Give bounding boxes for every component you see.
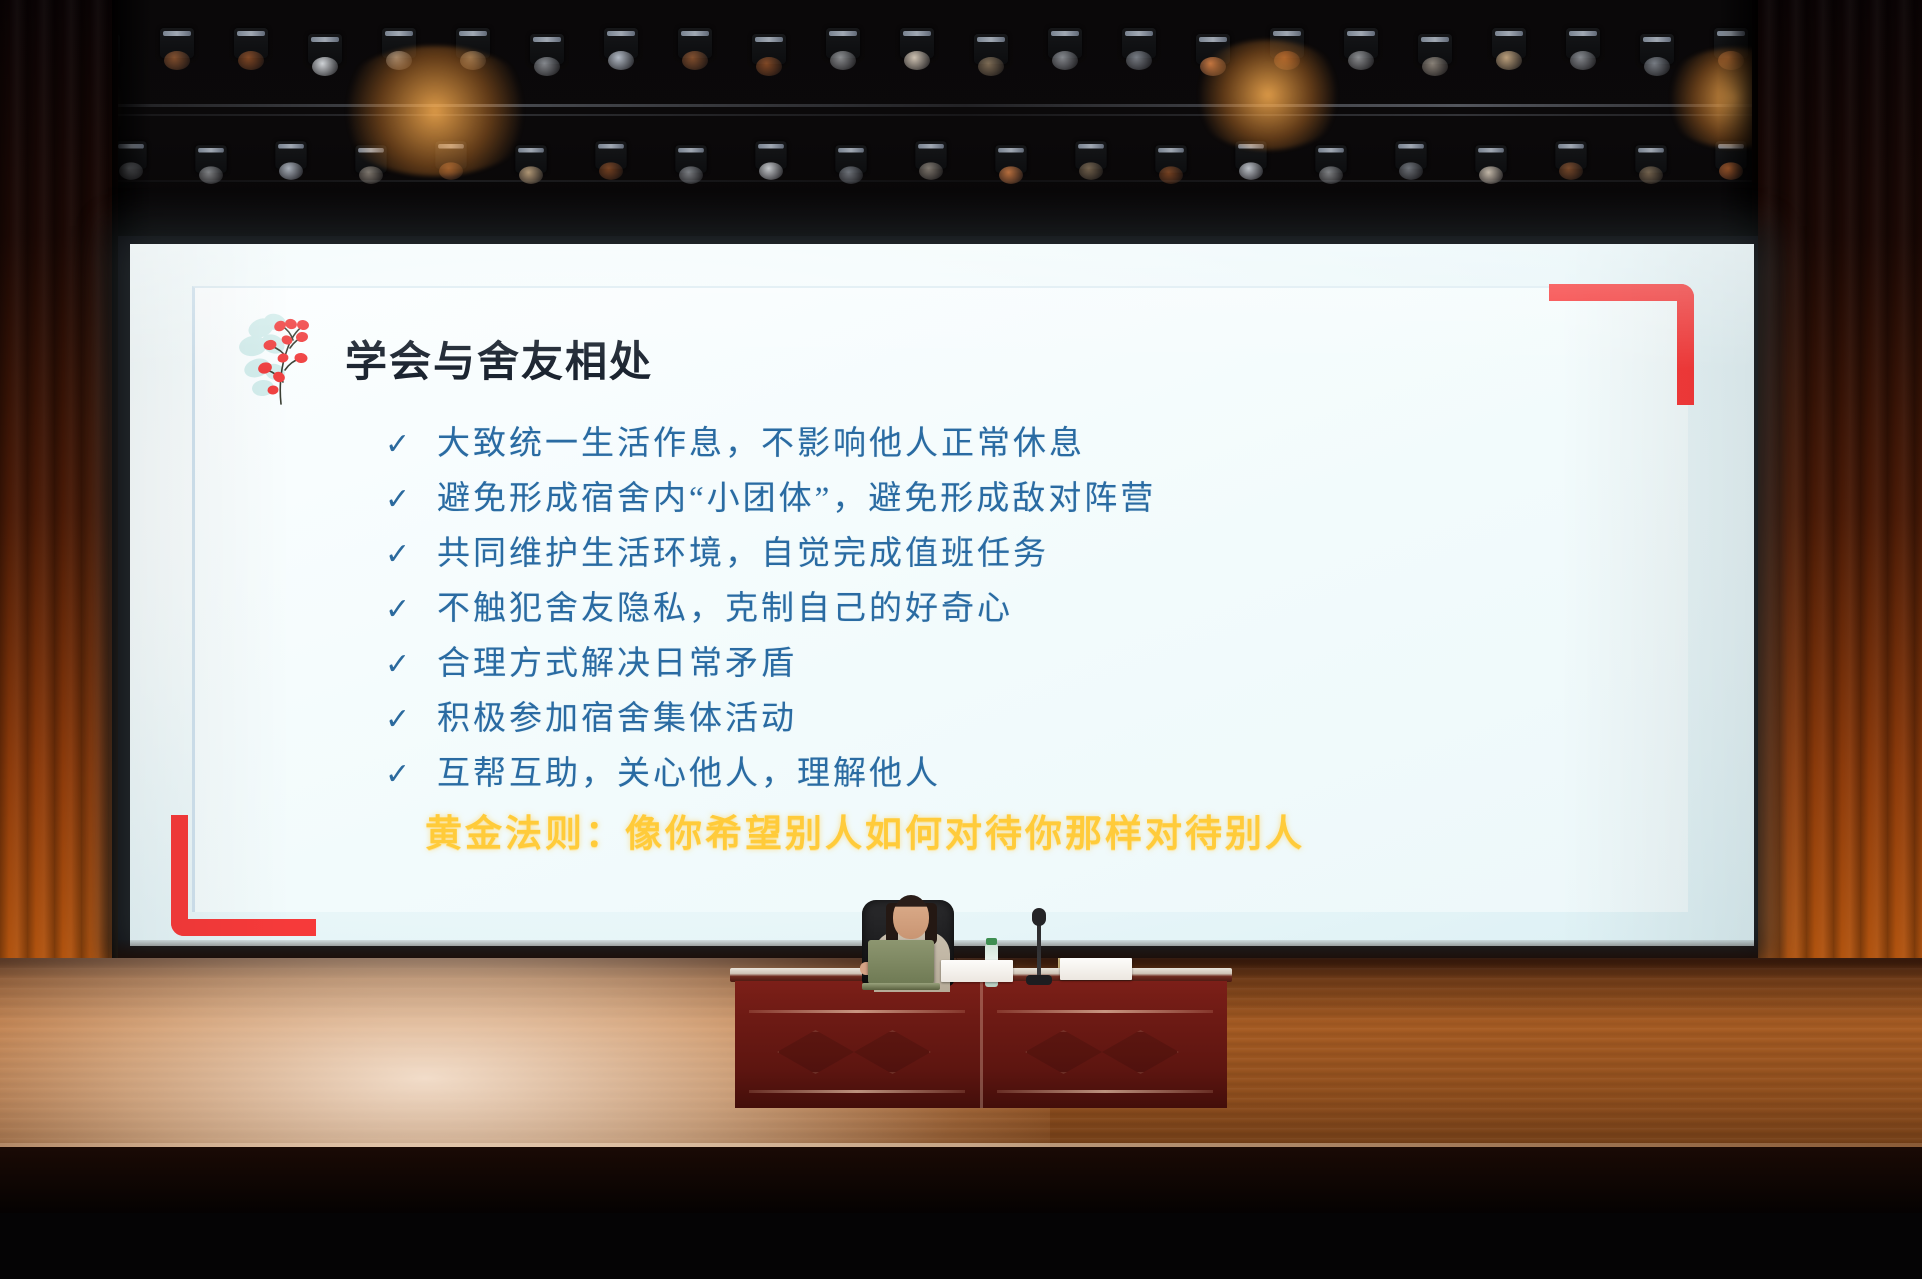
bullet-item: ✓共同维护生活环境，自觉完成值班任务 bbox=[385, 526, 1648, 581]
bullet-item: ✓互帮互助，关心他人，理解他人 bbox=[385, 746, 1648, 801]
stage-lamp bbox=[1075, 141, 1106, 169]
stage-front-edge bbox=[0, 1147, 1922, 1213]
stage-lamp bbox=[1122, 28, 1156, 58]
lamp-lens bbox=[839, 166, 863, 183]
lamp-lens bbox=[1496, 51, 1522, 70]
lamp-lens bbox=[1239, 162, 1263, 179]
lamp-bracket bbox=[311, 37, 339, 42]
table-trim-lower-right bbox=[997, 1090, 1213, 1093]
lamp-lens bbox=[534, 57, 560, 76]
lamp-lens bbox=[1422, 57, 1448, 76]
lamp-lens bbox=[1159, 166, 1183, 183]
warm-glow-right bbox=[1188, 40, 1348, 150]
check-icon: ✓ bbox=[385, 705, 411, 735]
stage-lamp bbox=[1344, 28, 1378, 58]
check-icon: ✓ bbox=[385, 430, 411, 460]
lamp-bracket bbox=[385, 31, 413, 36]
lamp-lens bbox=[199, 166, 223, 183]
stage-lamp bbox=[1492, 28, 1526, 58]
bullet-label: 合理方式解决日常矛盾 bbox=[437, 636, 797, 684]
bullet-item: ✓大致统一生活作息，不影响他人正常休息 bbox=[385, 416, 1648, 471]
lamp-bracket bbox=[1318, 148, 1344, 153]
lamp-bracket bbox=[163, 31, 191, 36]
lamp-bracket bbox=[758, 144, 784, 149]
truss-bar-upper bbox=[0, 104, 1922, 107]
check-icon: ✓ bbox=[385, 650, 411, 680]
bullet-label: 避免形成宿舍内“小团体”，避免形成敌对阵营 bbox=[437, 471, 1156, 519]
lamp-bracket bbox=[598, 144, 624, 149]
lamp-lens bbox=[1644, 57, 1670, 76]
stage-lamp bbox=[755, 141, 786, 169]
laptop-screen bbox=[868, 940, 934, 984]
lamp-bracket bbox=[1125, 31, 1153, 36]
slide-bullet-list: ✓大致统一生活作息，不影响他人正常休息✓避免形成宿舍内“小团体”，避免形成敌对阵… bbox=[385, 416, 1648, 801]
stage-lamp bbox=[1640, 34, 1674, 64]
slide-title: 学会与舍友相处 bbox=[345, 328, 653, 389]
lamp-bracket bbox=[533, 37, 561, 42]
lamp-bracket bbox=[1643, 37, 1671, 42]
lamp-bracket bbox=[977, 37, 1005, 42]
bullet-item: ✓积极参加宿舍集体活动 bbox=[385, 691, 1648, 746]
lamp-lens bbox=[830, 51, 856, 70]
check-icon: ✓ bbox=[385, 540, 411, 570]
gooseneck-microphone-foot bbox=[1026, 975, 1052, 985]
lamp-bracket bbox=[1158, 148, 1184, 153]
gooseneck-microphone-head bbox=[1032, 908, 1046, 926]
lamp-lens bbox=[978, 57, 1004, 76]
lamp-bracket bbox=[1347, 31, 1375, 36]
bullet-label: 积极参加宿舍集体活动 bbox=[437, 691, 797, 739]
corner-bracket-bottom-left bbox=[171, 815, 316, 936]
corner-bracket-top-right bbox=[1549, 284, 1694, 405]
lamp-lens bbox=[1559, 162, 1583, 179]
lamp-bracket bbox=[459, 31, 487, 36]
lamp-lens bbox=[164, 51, 190, 70]
lamp-lens bbox=[1399, 162, 1423, 179]
lamp-bracket bbox=[1558, 144, 1584, 149]
lamp-bracket bbox=[518, 148, 544, 153]
stage-lamp bbox=[1315, 145, 1346, 173]
stage-lamp bbox=[826, 28, 860, 58]
lamp-lens bbox=[1319, 166, 1343, 183]
stage-lamp bbox=[515, 145, 546, 173]
stage-lamp bbox=[915, 141, 946, 169]
lamp-bracket bbox=[998, 148, 1024, 153]
berry-branch-icon bbox=[235, 310, 327, 406]
table-trim-upper-right bbox=[997, 1010, 1213, 1013]
ceiling-lighting-rig bbox=[0, 0, 1922, 250]
lamp-bracket bbox=[1199, 37, 1227, 42]
stage-lamp bbox=[1418, 34, 1452, 64]
bullet-label: 共同维护生活环境，自觉完成值班任务 bbox=[437, 526, 1049, 574]
lamp-bracket bbox=[1078, 144, 1104, 149]
presenter-head bbox=[893, 895, 929, 939]
lamp-bracket bbox=[918, 144, 944, 149]
lamp-bracket bbox=[681, 31, 709, 36]
stage-lamp bbox=[595, 141, 626, 169]
lamp-lens bbox=[919, 162, 943, 179]
lamp-lens bbox=[1639, 166, 1663, 183]
lamp-bracket bbox=[838, 148, 864, 153]
lamp-bracket bbox=[198, 148, 224, 153]
stage-lamp bbox=[530, 34, 564, 64]
bullet-item: ✓不触犯舍友隐私，克制自己的好奇心 bbox=[385, 581, 1648, 636]
lamp-lens bbox=[599, 162, 623, 179]
stage-lamp bbox=[160, 28, 194, 58]
lamp-lens bbox=[238, 51, 264, 70]
stage-lamp bbox=[1475, 145, 1506, 173]
stage-lamp bbox=[1395, 141, 1426, 169]
lamp-bracket bbox=[1638, 148, 1664, 153]
stage-lamp bbox=[995, 145, 1026, 173]
lamp-lens bbox=[999, 166, 1023, 183]
podium-table bbox=[735, 968, 1227, 1108]
stage-lamp bbox=[752, 34, 786, 64]
lamp-bracket bbox=[1398, 144, 1424, 149]
stage-lamp bbox=[604, 28, 638, 58]
stage-lamp bbox=[1048, 28, 1082, 58]
name-card-left bbox=[941, 960, 1013, 982]
stage-lamp bbox=[678, 28, 712, 58]
lamp-lens bbox=[608, 51, 634, 70]
check-icon: ✓ bbox=[385, 485, 411, 515]
stage-lamp bbox=[1635, 145, 1666, 173]
lamp-lens bbox=[1479, 166, 1503, 183]
lamp-bracket bbox=[237, 31, 265, 36]
lamp-bracket bbox=[1421, 37, 1449, 42]
lamp-lens bbox=[1348, 51, 1374, 70]
bullet-item: ✓合理方式解决日常矛盾 bbox=[385, 636, 1648, 691]
stage-lamp bbox=[900, 28, 934, 58]
stage-lamp bbox=[1155, 145, 1186, 173]
stage-curtain-left bbox=[0, 0, 118, 1070]
lamp-lens bbox=[1079, 162, 1103, 179]
bullet-label: 不触犯舍友隐私，克制自己的好奇心 bbox=[437, 581, 1013, 629]
stage-lamp bbox=[234, 28, 268, 58]
lamp-lens bbox=[679, 166, 703, 183]
lamp-bracket bbox=[1273, 31, 1301, 36]
lamp-bracket bbox=[903, 31, 931, 36]
lamp-bracket bbox=[607, 31, 635, 36]
table-panel-divider bbox=[980, 981, 983, 1108]
bullet-label: 互帮互助，关心他人，理解他人 bbox=[437, 746, 941, 794]
lamp-bracket bbox=[829, 31, 857, 36]
stage-lamp bbox=[308, 34, 342, 64]
projection-screen: 学会与舍友相处 ✓大致统一生活作息，不影响他人正常休息✓避免形成宿舍内“小团体”… bbox=[130, 244, 1754, 946]
table-trim-lower-left bbox=[749, 1090, 965, 1093]
lamp-lens bbox=[904, 51, 930, 70]
water-bottle-cap bbox=[986, 938, 997, 945]
stage-lamp bbox=[974, 34, 1008, 64]
check-icon: ✓ bbox=[385, 760, 411, 790]
lamp-bracket bbox=[1495, 31, 1523, 36]
stage-lamp bbox=[275, 141, 306, 169]
truss-bar-middle bbox=[0, 114, 1922, 116]
warm-glow-center bbox=[330, 46, 540, 176]
lamp-lens bbox=[279, 162, 303, 179]
lamp-lens bbox=[519, 166, 543, 183]
laptop-base bbox=[862, 983, 940, 990]
lamp-bracket bbox=[755, 37, 783, 42]
golden-rule-text: 黄金法则：像你希望别人如何对待你那样对待别人 bbox=[425, 803, 1305, 857]
check-icon: ✓ bbox=[385, 595, 411, 625]
stage-curtain-right bbox=[1752, 0, 1922, 1070]
bullet-label: 大致统一生活作息，不影响他人正常休息 bbox=[437, 416, 1085, 464]
lamp-lens bbox=[759, 162, 783, 179]
lamp-lens bbox=[359, 166, 383, 183]
lamp-lens bbox=[1570, 51, 1596, 70]
lamp-bracket bbox=[1051, 31, 1079, 36]
lamp-lens bbox=[756, 57, 782, 76]
stage-lamp bbox=[1555, 141, 1586, 169]
lamp-bracket bbox=[678, 148, 704, 153]
lamp-bracket bbox=[1569, 31, 1597, 36]
stage-lamp bbox=[195, 145, 226, 173]
lamp-lens bbox=[1126, 51, 1152, 70]
bullet-item: ✓避免形成宿舍内“小团体”，避免形成敌对阵营 bbox=[385, 471, 1648, 526]
lamp-lens bbox=[1052, 51, 1078, 70]
name-card-right bbox=[1060, 958, 1132, 980]
auditorium-stage-photo: 学会与舍友相处 ✓大致统一生活作息，不影响他人正常休息✓避免形成宿舍内“小团体”… bbox=[0, 0, 1922, 1279]
slide-inner-panel: 学会与舍友相处 ✓大致统一生活作息，不影响他人正常休息✓避免形成宿舍内“小团体”… bbox=[192, 286, 1688, 912]
lamp-lens bbox=[312, 57, 338, 76]
slide-header: 学会与舍友相处 bbox=[235, 310, 653, 406]
lamp-bracket bbox=[1478, 148, 1504, 153]
lamp-lens bbox=[682, 51, 708, 70]
stage-lamp bbox=[675, 145, 706, 173]
lamp-bracket bbox=[278, 144, 304, 149]
stage-lamp bbox=[835, 145, 866, 173]
table-trim-upper-left bbox=[749, 1010, 965, 1013]
stage-lamp bbox=[1566, 28, 1600, 58]
truss-bar-lower bbox=[0, 180, 1922, 182]
